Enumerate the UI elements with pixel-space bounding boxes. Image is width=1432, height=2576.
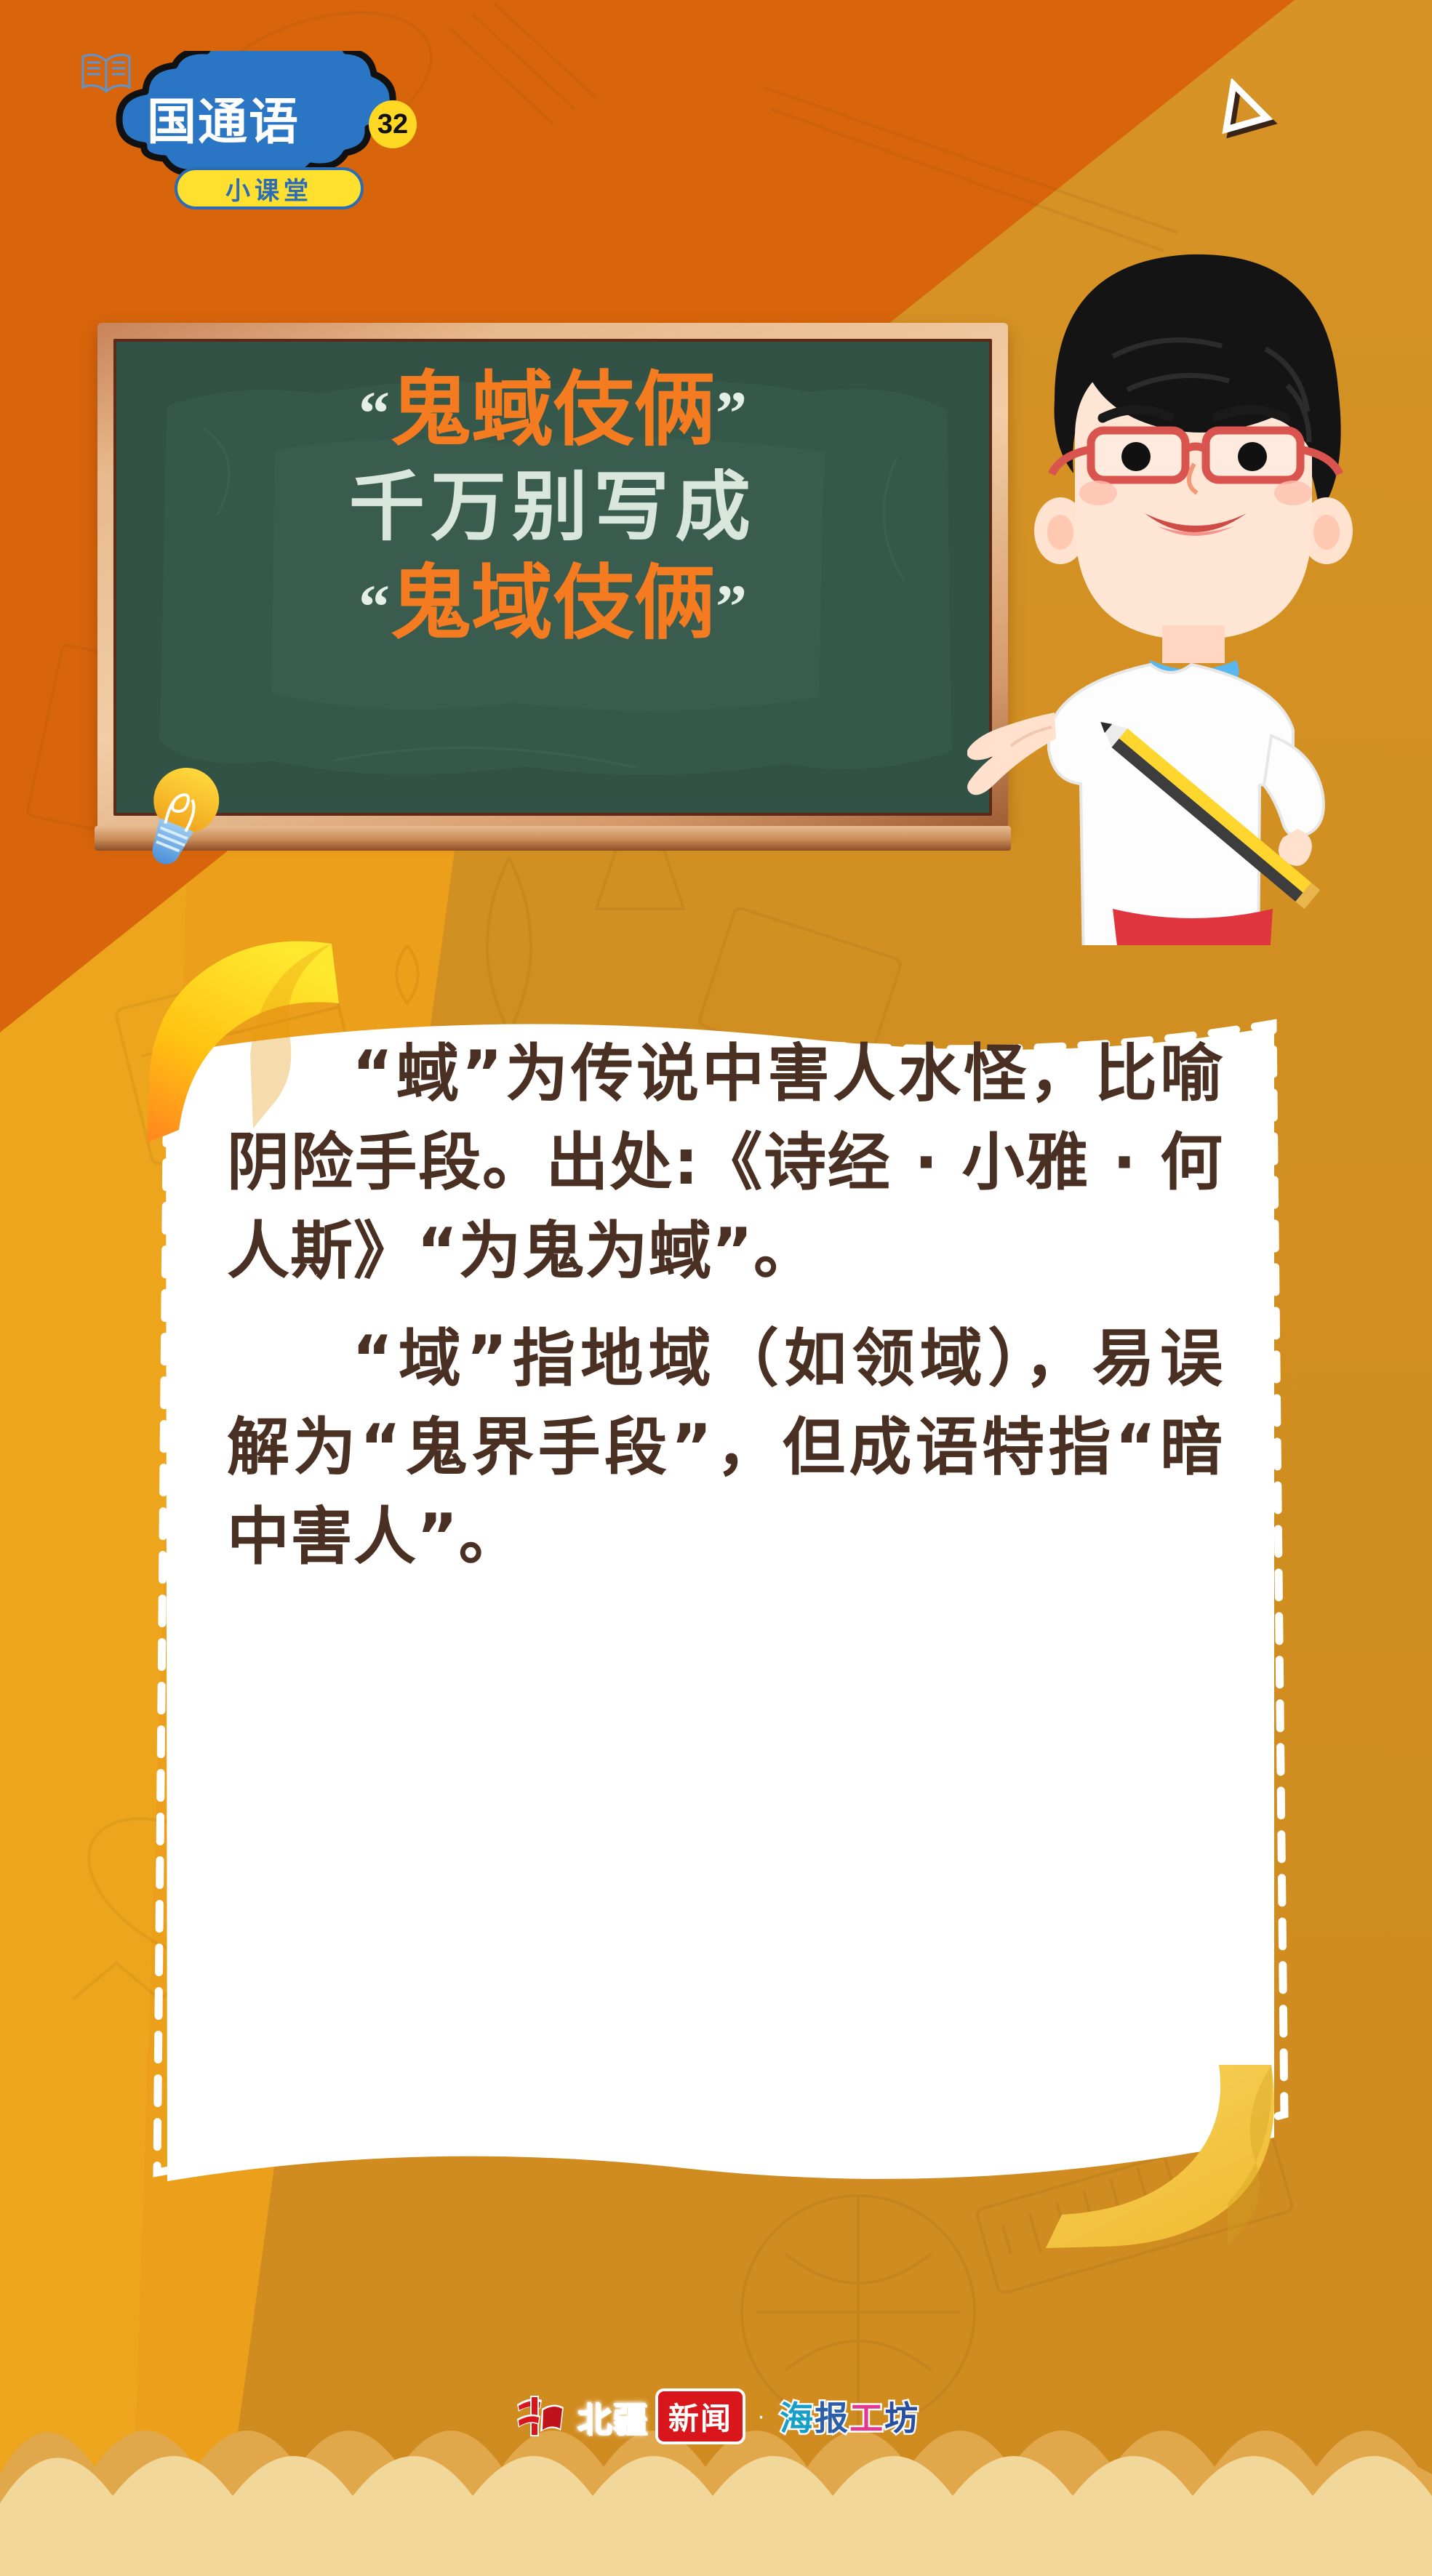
blackboard-line-1-text: 鬼蜮伎俩 bbox=[390, 366, 716, 456]
footer-separator: · bbox=[757, 2402, 765, 2431]
left-hand bbox=[967, 713, 1056, 795]
eye-right bbox=[1238, 442, 1267, 471]
studio-char-1: 海 bbox=[780, 2400, 815, 2437]
ribbon-fold-bottom-right bbox=[1008, 2039, 1313, 2279]
beijiang-flag-mark-icon bbox=[513, 2393, 567, 2439]
studio-char-2: 报 bbox=[815, 2400, 849, 2437]
white-tshirt bbox=[1049, 665, 1293, 945]
content-card: “蜮”为传说中害人水怪，比喻阴险手段。出处:《诗经 · 小雅 · 何人斯》“为鬼… bbox=[160, 945, 1280, 2239]
right-arm bbox=[1264, 736, 1324, 836]
lightbulb-icon bbox=[143, 759, 223, 868]
studio-char-3: 工 bbox=[849, 2400, 884, 2437]
blackboard-text-block: “鬼蜮伎俩” 千万别写成 “鬼域伎俩” bbox=[116, 369, 989, 646]
footer-news-tag: 新闻 bbox=[658, 2391, 743, 2441]
logo-issue-badge: 32 bbox=[369, 100, 417, 148]
blackboard-line-1: “鬼蜮伎俩” bbox=[116, 369, 989, 452]
card-paragraph-2: “域”指地域（如领域），易误解为“鬼界手段”，但成语特指“暗中害人”。 bbox=[227, 1315, 1223, 1581]
blackboard-line-3-text: 鬼域伎俩 bbox=[390, 559, 716, 649]
quote-open-1: “ bbox=[359, 378, 390, 448]
play-triangle-icon bbox=[1219, 79, 1286, 145]
blackboard-ledge bbox=[95, 826, 1011, 851]
quote-close-1: ” bbox=[716, 378, 747, 448]
quote-close-3: ” bbox=[716, 571, 747, 641]
eye-left bbox=[1121, 442, 1151, 471]
footer-brand-bar: 北疆 新闻 · 海报工坊 bbox=[0, 2383, 1432, 2449]
logo-title: 国通语 bbox=[147, 93, 365, 151]
open-book-icon bbox=[80, 51, 132, 96]
quote-open-3: “ bbox=[359, 571, 390, 641]
boy-student-illustration bbox=[967, 218, 1418, 945]
footer-studio-name: 海报工坊 bbox=[780, 2392, 919, 2440]
card-paragraph-1: “蜮”为传说中害人水怪，比喻阴险手段。出处:《诗经 · 小雅 · 何人斯》“为鬼… bbox=[227, 1030, 1223, 1296]
blackboard-line-3: “鬼域伎俩” bbox=[116, 563, 989, 646]
poster-root: 国通语 32 小课堂 “鬼蜮伎俩” 千万别写成 “鬼域伎俩” bbox=[0, 0, 1432, 2576]
logo-subtitle: 小课堂 bbox=[175, 167, 364, 209]
blackboard-line-2: 千万别写成 bbox=[116, 470, 989, 547]
blackboard: “鬼蜮伎俩” 千万别写成 “鬼域伎俩” bbox=[97, 323, 1008, 832]
blackboard-surface: “鬼蜮伎俩” 千万别写成 “鬼域伎俩” bbox=[113, 339, 992, 816]
studio-char-4: 坊 bbox=[884, 2400, 919, 2437]
footer-brand-name: 北疆 bbox=[577, 2391, 648, 2441]
card-text-body: “蜮”为传说中害人水怪，比喻阴险手段。出处:《诗经 · 小雅 · 何人斯》“为鬼… bbox=[227, 1030, 1223, 1600]
logo-badge[interactable]: 国通语 32 小课堂 bbox=[80, 51, 422, 204]
